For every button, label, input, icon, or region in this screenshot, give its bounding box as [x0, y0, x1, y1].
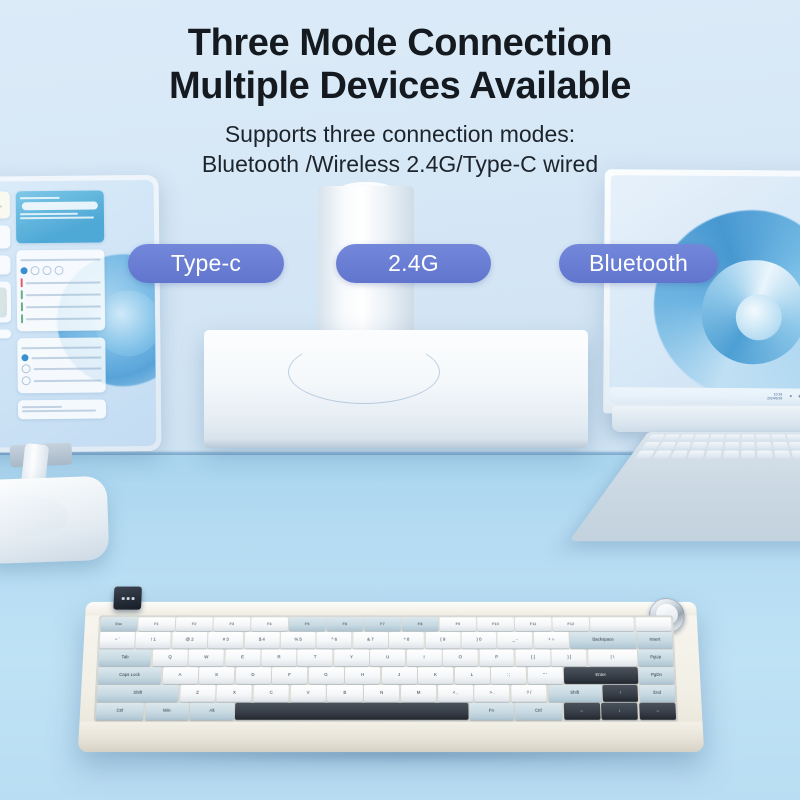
- key-enter[interactable]: Enter: [564, 667, 638, 684]
- laptop-key[interactable]: [652, 451, 671, 459]
- laptop-key[interactable]: [740, 451, 755, 459]
- key-[interactable]: + =: [534, 632, 569, 649]
- key-8[interactable]: * 8: [389, 632, 424, 649]
- keyboard-row: EscF1F2F3F4F5F6F7F8F9F10F11F12: [100, 617, 671, 631]
- key-blank[interactable]: [635, 617, 672, 631]
- widget-card-hero: [16, 190, 105, 243]
- laptop-key[interactable]: [674, 442, 691, 449]
- key-blank[interactable]: [590, 617, 634, 631]
- tablet-device: [0, 175, 161, 453]
- laptop-key[interactable]: [678, 434, 694, 441]
- badge-bluetooth: Bluetooth: [559, 244, 718, 283]
- badge-type-c-label: Type-c: [171, 250, 241, 277]
- laptop-key[interactable]: [741, 442, 755, 449]
- laptop-key[interactable]: [691, 442, 707, 449]
- key-f6[interactable]: F6: [327, 617, 363, 631]
- key-7[interactable]: & 7: [353, 632, 388, 649]
- widget-column-left: [0, 191, 11, 339]
- key-[interactable]: < ,: [438, 685, 474, 702]
- keyboard-case-front: [78, 722, 704, 752]
- headline-line-2: Multiple Devices Available: [0, 65, 800, 108]
- key-a[interactable]: A: [162, 667, 198, 684]
- key-space[interactable]: [235, 703, 468, 720]
- escape-dot-icon: [126, 597, 129, 600]
- escape-keycap[interactable]: [113, 587, 142, 610]
- key-f5[interactable]: F5: [289, 617, 325, 631]
- key-k[interactable]: K: [418, 667, 453, 684]
- mechanical-keyboard[interactable]: EscF1F2F3F4F5F6F7F8F9F10F11F12~ `! 1@ 2#…: [78, 602, 704, 752]
- key-[interactable]: | \: [588, 649, 637, 666]
- key-alt[interactable]: Alt: [190, 703, 234, 720]
- laptop-base: [612, 406, 800, 432]
- laptop-key[interactable]: [723, 451, 739, 459]
- key-[interactable]: ~ `: [99, 632, 134, 649]
- key-f9[interactable]: F9: [440, 617, 476, 631]
- monitor-base-circle: [288, 340, 440, 404]
- keyboard-row: ~ `! 1@ 2# 3$ 4% 5^ 6& 7* 8( 9) 0_ -+ =B…: [99, 632, 672, 649]
- keyboard-row: Caps LockASDFGHJKL: ;" 'EnterPgDn: [98, 667, 675, 684]
- key-3[interactable]: # 3: [208, 632, 243, 649]
- key-f1[interactable]: F1: [138, 617, 175, 631]
- badge-24g-label: 2.4G: [388, 250, 439, 277]
- key-pgdn[interactable]: PgDn: [639, 667, 675, 684]
- key-fn[interactable]: Fn: [470, 703, 514, 720]
- badge-bluetooth-label: Bluetooth: [589, 250, 688, 277]
- key-e[interactable]: E: [225, 649, 260, 666]
- badge-type-c: Type-c: [128, 244, 284, 283]
- key-[interactable]: ↓: [601, 703, 638, 720]
- key-[interactable]: " ': [527, 667, 562, 684]
- key-u[interactable]: U: [370, 649, 405, 666]
- key-h[interactable]: H: [345, 667, 380, 684]
- key-shift[interactable]: Shift: [548, 685, 602, 702]
- key-y[interactable]: Y: [334, 649, 369, 666]
- key-caps-lock[interactable]: Caps Lock: [98, 667, 162, 684]
- page-subtitle: Supports three connection modes: Bluetoo…: [0, 120, 800, 180]
- key-9[interactable]: ( 9: [425, 632, 460, 649]
- widget-card-photo: [0, 281, 11, 323]
- key-f11[interactable]: F11: [515, 617, 552, 631]
- key-[interactable]: { [: [515, 649, 550, 666]
- key-n[interactable]: N: [364, 685, 399, 702]
- key-tab[interactable]: Tab: [99, 649, 152, 666]
- key-w[interactable]: W: [189, 649, 224, 666]
- product-marketing-image: 10:26 2024/6/18 ● ◆ ▲ ^: [0, 0, 800, 800]
- key-f8[interactable]: F8: [402, 617, 438, 631]
- key-m[interactable]: M: [401, 685, 436, 702]
- key-ctrl[interactable]: Ctrl: [96, 703, 144, 720]
- key-[interactable]: ? /: [511, 685, 547, 702]
- key-[interactable]: : ;: [491, 667, 526, 684]
- key-o[interactable]: O: [443, 649, 478, 666]
- key-insert[interactable]: Insert: [637, 632, 672, 649]
- key-2[interactable]: @ 2: [172, 632, 207, 649]
- laptop-key[interactable]: [641, 442, 660, 449]
- widget-card-info: [0, 225, 10, 249]
- key-f4[interactable]: F4: [251, 617, 287, 631]
- key-q[interactable]: Q: [152, 649, 187, 666]
- taskbar-clock[interactable]: 10:26 2024/6/18: [767, 392, 782, 401]
- escape-dot-icon: [121, 597, 124, 600]
- subheadline-line-2: Bluetooth /Wireless 2.4G/Type-C wired: [0, 150, 800, 180]
- key-ctrl[interactable]: Ctrl: [515, 703, 563, 720]
- key-pgup[interactable]: PgUp: [638, 649, 674, 666]
- key-g[interactable]: G: [308, 667, 343, 684]
- laptop-taskbar[interactable]: 10:26 2024/6/18 ● ◆ ▲ ^: [609, 387, 800, 405]
- key-esc[interactable]: Esc: [100, 617, 137, 631]
- subheadline-line-1: Supports three connection modes:: [0, 120, 800, 150]
- add-widgets-button[interactable]: [0, 329, 11, 339]
- key-[interactable]: ↑: [602, 685, 638, 702]
- key-f7[interactable]: F7: [364, 617, 400, 631]
- key-s[interactable]: S: [199, 667, 235, 684]
- key-0[interactable]: ) 0: [462, 632, 497, 649]
- key-[interactable]: _ -: [498, 632, 533, 649]
- key-i[interactable]: I: [407, 649, 442, 666]
- keyboard-row: CtrlWinAltFnCtrl←↓→: [96, 703, 676, 720]
- key-r[interactable]: R: [261, 649, 296, 666]
- key-[interactable]: →: [639, 703, 676, 720]
- key-end[interactable]: End: [639, 685, 675, 702]
- laptop-key[interactable]: [741, 434, 755, 441]
- key-j[interactable]: J: [381, 667, 416, 684]
- widget-card-weather: [0, 191, 10, 219]
- key-f10[interactable]: F10: [477, 617, 513, 631]
- widget-card-calendar: [16, 249, 105, 331]
- laptop-key[interactable]: [687, 451, 705, 459]
- keyboard-row: ShiftZXCVBNM< ,> .? /Shift↑End: [97, 685, 676, 702]
- key-4[interactable]: $ 4: [244, 632, 279, 649]
- windows-bloom-core-icon: [736, 294, 782, 340]
- key-f3[interactable]: F3: [213, 617, 250, 631]
- key-p[interactable]: P: [479, 649, 514, 666]
- key-[interactable]: > .: [474, 685, 510, 702]
- keyboard-row: TabQWERTYUIOP{ [} ]| \PgUp: [99, 649, 674, 666]
- key-shift[interactable]: Shift: [97, 685, 179, 702]
- key-z[interactable]: Z: [180, 685, 216, 702]
- key-[interactable]: ←: [563, 703, 600, 720]
- key-f12[interactable]: F12: [553, 617, 590, 631]
- laptop-key[interactable]: [694, 434, 709, 441]
- laptop-key[interactable]: [663, 434, 680, 441]
- network-icon[interactable]: ●: [789, 394, 794, 399]
- widget-card-list: [0, 255, 11, 275]
- widget-photo-thumb: [0, 287, 7, 318]
- keyboard-keys-plate: EscF1F2F3F4F5F6F7F8F9F10F11F12~ `! 1@ 2#…: [94, 615, 679, 721]
- key-t[interactable]: T: [298, 649, 333, 666]
- laptop-key[interactable]: [705, 451, 722, 459]
- laptop-screen: 10:26 2024/6/18 ● ◆ ▲ ^: [609, 175, 800, 405]
- laptop-device: 10:26 2024/6/18 ● ◆ ▲ ^: [603, 169, 800, 415]
- monitor-base-lip: [204, 438, 588, 448]
- key-6[interactable]: ^ 6: [317, 632, 352, 649]
- key-v[interactable]: V: [290, 685, 326, 702]
- key-f[interactable]: F: [272, 667, 307, 684]
- laptop-key[interactable]: [670, 451, 688, 459]
- key-1[interactable]: ! 1: [136, 632, 171, 649]
- laptop-key[interactable]: [724, 442, 739, 449]
- laptop-key[interactable]: [647, 434, 665, 441]
- key-x[interactable]: X: [216, 685, 252, 702]
- key-[interactable]: } ]: [552, 649, 587, 666]
- headline-line-1: Three Mode Connection: [0, 22, 800, 65]
- laptop-key[interactable]: [708, 442, 724, 449]
- page-title: Three Mode Connection Multiple Devices A…: [0, 22, 800, 107]
- tablet-screen: [0, 180, 156, 448]
- key-win[interactable]: Win: [145, 703, 189, 720]
- key-5[interactable]: % 5: [281, 632, 316, 649]
- key-backspace[interactable]: Backspace: [570, 632, 637, 649]
- keyboard-case-top: [85, 602, 696, 616]
- widget-column-right: [16, 190, 106, 426]
- key-b[interactable]: B: [327, 685, 362, 702]
- laptop-key[interactable]: [658, 442, 676, 449]
- badge-24g: 2.4G: [336, 244, 491, 283]
- key-f2[interactable]: F2: [176, 617, 213, 631]
- escape-dot-icon: [131, 597, 134, 600]
- key-c[interactable]: C: [253, 685, 289, 702]
- key-l[interactable]: L: [454, 667, 489, 684]
- laptop-key[interactable]: [710, 434, 725, 441]
- widget-search-field[interactable]: [22, 202, 98, 211]
- laptop-key[interactable]: [725, 434, 739, 441]
- key-d[interactable]: D: [235, 667, 270, 684]
- widget-card-todo: [17, 337, 106, 393]
- widget-card-news: [18, 399, 106, 419]
